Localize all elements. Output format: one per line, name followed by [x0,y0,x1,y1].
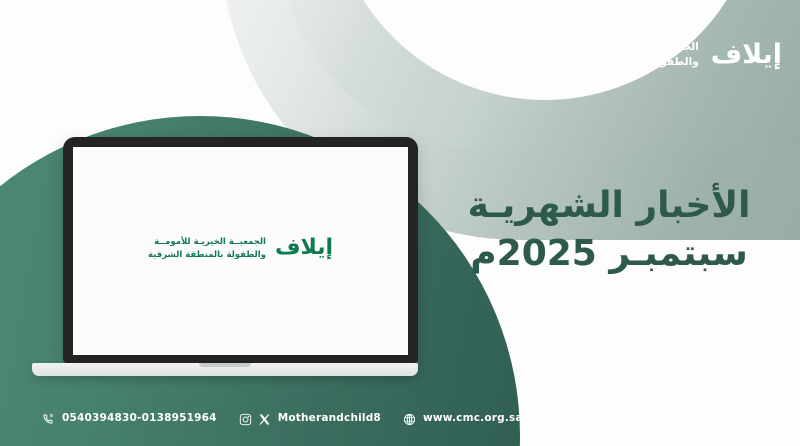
screen-brand-tagline-line-1: الجمعيــة الخيريـة للأمومــة [148,236,266,249]
instagram-icon[interactable] [239,411,252,424]
contact-phone[interactable]: 0540394830-0138951964 [42,411,217,424]
brand-tagline-line-2: والطفولة بالمنطقة الشرقية [553,55,699,70]
star-burst-icon [494,38,528,72]
laptop-lid: إيلاف الجمعيــة الخيريـة للأمومــة والطف… [63,137,418,363]
laptop-screen: إيلاف الجمعيــة الخيريـة للأمومــة والطف… [73,147,408,355]
page-title: الأخبار الشهريـة سبتمبـر 2025م [444,182,774,278]
laptop-base [32,363,418,376]
newsletter-cover: إيلاف الجمعيــة الخيريـة للأمومــة والطف… [0,0,800,446]
contact-social-handle: Motherandchild8 [278,412,381,424]
contact-bar: 0540394830-0138951964 Motherandchild8 [42,411,523,424]
laptop-mockup: إيلاف الجمعيــة الخيريـة للأمومــة والطف… [63,137,418,376]
screen-brand-wordmark: إيلاف [275,237,333,261]
phone-icon [42,411,55,424]
contact-website-value: www.cmc.org.sa [423,412,523,424]
brand-tagline: الجمعيــة الخيريـة للأمومــة والطفولة با… [553,40,699,70]
page-title-line-1: الأخبار الشهريـة [444,182,774,230]
brand-wordmark: إيلاف [711,41,782,70]
x-twitter-icon[interactable] [258,411,271,424]
globe-icon [403,411,416,424]
screen-brand-logo: إيلاف الجمعيــة الخيريـة للأمومــة والطف… [148,236,333,262]
screen-brand-tagline: الجمعيــة الخيريـة للأمومــة والطفولة با… [148,236,266,262]
page-title-line-2: سبتمبـر 2025م [444,230,774,278]
brand-tagline-line-1: الجمعيــة الخيريـة للأمومــة [553,40,699,55]
contact-social[interactable]: Motherandchild8 [239,411,381,424]
contact-website[interactable]: www.cmc.org.sa [403,411,523,424]
screen-brand-tagline-line-2: والطفولة بالمنطقة الشرقية [148,249,266,262]
brand-divider [540,38,541,72]
contact-phone-value: 0540394830-0138951964 [62,412,217,424]
brand-logo: إيلاف الجمعيــة الخيريـة للأمومــة والطف… [494,38,782,72]
social-icon-group [239,411,271,424]
